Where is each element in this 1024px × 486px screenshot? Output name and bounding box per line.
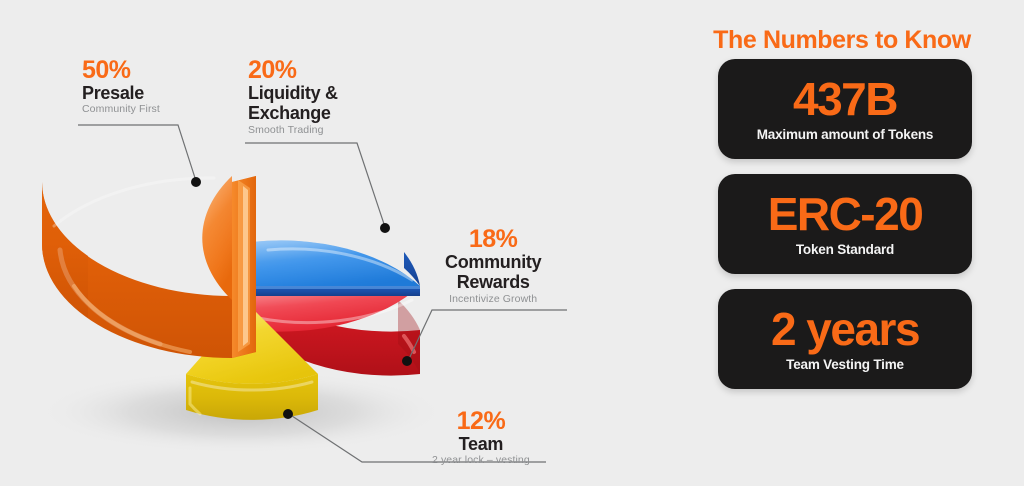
- callout-liquidity-percent: 20%: [248, 57, 338, 83]
- callout-presale-percent: 50%: [82, 57, 160, 83]
- infographic-canvas: 50% Presale Community First 20% Liquidit…: [0, 0, 1024, 486]
- callout-rewards-sublabel: Incentivize Growth: [445, 293, 541, 306]
- pie-chart-panel: 50% Presale Community First 20% Liquidit…: [0, 0, 620, 486]
- callout-rewards-name-line2: Rewards: [445, 272, 541, 292]
- anchor-dot-team: [283, 409, 293, 419]
- stat-card-token-standard: ERC-20 Token Standard: [718, 174, 972, 274]
- callout-rewards-name-line1: Community: [445, 252, 541, 272]
- stat-card-max-supply-label: Maximum amount of Tokens: [757, 127, 933, 142]
- callout-presale-name: Presale: [82, 83, 160, 103]
- stat-card-token-standard-label: Token Standard: [796, 242, 894, 257]
- stat-card-token-standard-value: ERC-20: [768, 191, 923, 237]
- stat-card-vesting-time-value: 2 years: [771, 306, 919, 352]
- callout-team-sublabel: 2 year lock – vesting: [432, 454, 530, 467]
- stat-card-max-supply-value: 437B: [793, 76, 897, 122]
- leader-line-liquidity: [245, 143, 385, 227]
- leader-line-rewards: [408, 310, 567, 361]
- callout-presale-sublabel: Community First: [82, 103, 160, 116]
- callout-liquidity-sublabel: Smooth Trading: [248, 124, 338, 137]
- stats-panel: The Numbers to Know 437B Maximum amount …: [660, 0, 1024, 486]
- callout-liquidity-name-line2: Exchange: [248, 103, 338, 123]
- callout-team: 12% Team 2 year lock – vesting: [432, 408, 530, 467]
- anchor-dot-rewards: [402, 356, 412, 366]
- stat-card-vesting-time: 2 years Team Vesting Time: [718, 289, 972, 389]
- callout-community-rewards: 18% Community Rewards Incentivize Growth: [445, 226, 541, 305]
- anchor-dot-presale: [191, 177, 201, 187]
- callout-liquidity-name-line1: Liquidity &: [248, 83, 338, 103]
- callout-rewards-percent: 18%: [445, 226, 541, 252]
- callout-presale: 50% Presale Community First: [82, 57, 160, 116]
- callout-team-percent: 12%: [432, 408, 530, 434]
- stats-panel-title: The Numbers to Know: [660, 26, 1024, 55]
- stat-card-vesting-time-label: Team Vesting Time: [786, 357, 904, 372]
- leader-line-presale: [78, 125, 196, 181]
- callout-liquidity-exchange: 20% Liquidity & Exchange Smooth Trading: [248, 57, 338, 136]
- pie-slice-liquidity-exchange: [252, 240, 420, 296]
- stat-card-max-supply: 437B Maximum amount of Tokens: [718, 59, 972, 159]
- anchor-dot-liquidity: [380, 223, 390, 233]
- callout-team-name: Team: [432, 434, 530, 454]
- pie-slice-presale: [42, 176, 256, 358]
